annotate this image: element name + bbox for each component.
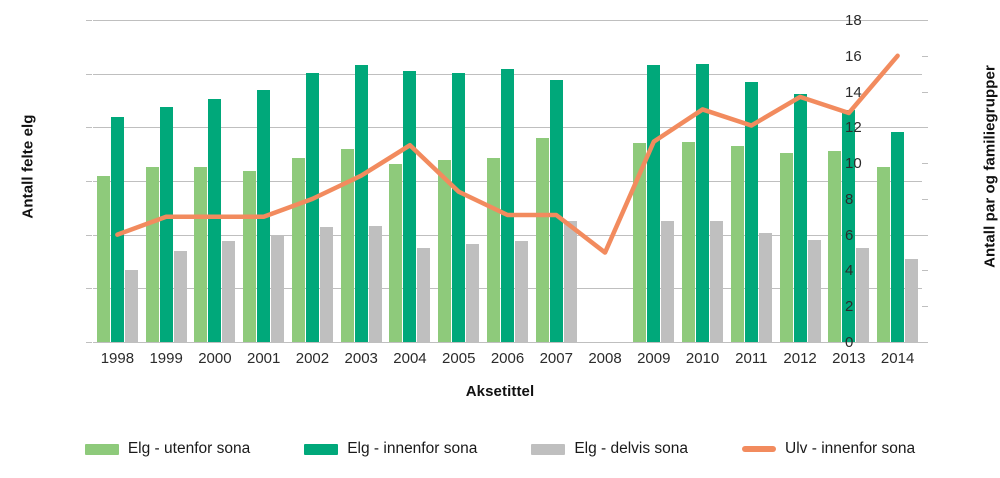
bar — [403, 71, 416, 342]
y-axis-left-title: Antall felte elg — [20, 47, 37, 287]
x-axis-tick-label: 2014 — [868, 350, 928, 367]
y-axis-left-tick — [86, 288, 92, 289]
y-axis-right-tick — [922, 306, 928, 307]
bar — [891, 132, 904, 342]
legend-swatch-icon — [531, 444, 565, 455]
y-axis-right-tick-label: 2 — [845, 299, 885, 314]
bar — [125, 270, 138, 342]
bar-group — [438, 20, 479, 342]
bar — [745, 82, 758, 342]
y-axis-right-title: Antall par og familiegrupper — [982, 47, 999, 287]
y-axis-left-tick — [86, 127, 92, 128]
bar-group — [243, 20, 284, 342]
bar-group — [487, 20, 528, 342]
bar-group — [536, 20, 577, 342]
bar — [550, 80, 563, 342]
bar — [355, 65, 368, 342]
y-axis-right-tick-label: 12 — [845, 120, 885, 135]
bar — [564, 221, 577, 342]
chart-legend: Elg - utenfor sonaElg - innenfor sonaElg… — [0, 440, 1000, 458]
y-axis-right-tick-label: 16 — [845, 49, 885, 64]
legend-swatch-icon — [85, 444, 119, 455]
chart-container: Antall felte elg Antall par og familiegr… — [0, 0, 1000, 478]
y-axis-left-tick — [86, 181, 92, 182]
y-axis-right-tick-label: 4 — [845, 263, 885, 278]
y-axis-right-tick-label: 6 — [845, 228, 885, 243]
bar — [369, 226, 382, 342]
bar — [808, 240, 821, 343]
bar-group — [828, 20, 869, 342]
y-axis-right-tick — [922, 92, 928, 93]
legend-item-label: Ulv - innenfor sona — [785, 440, 915, 458]
bar — [856, 248, 869, 342]
bar — [222, 241, 235, 342]
bar — [320, 227, 333, 342]
bar — [780, 153, 793, 342]
legend-line-marker-icon — [742, 446, 776, 452]
bar-group — [146, 20, 187, 342]
bar — [828, 151, 841, 342]
bar — [306, 73, 319, 342]
y-axis-right-tick-label: 8 — [845, 192, 885, 207]
bar-group — [341, 20, 382, 342]
bar-group — [682, 20, 723, 342]
bar-group — [731, 20, 772, 342]
gridline — [93, 342, 922, 343]
legend-item[interactable]: Ulv - innenfor sona — [742, 440, 915, 458]
y-axis-left-tick — [86, 74, 92, 75]
y-axis-right-tick — [922, 127, 928, 128]
bar — [194, 167, 207, 342]
bar — [174, 251, 187, 342]
bar-group — [194, 20, 235, 342]
bar — [661, 221, 674, 342]
bar — [682, 142, 695, 342]
y-axis-right-tick-label: 18 — [845, 13, 885, 28]
legend-item-label: Elg - utenfor sona — [128, 440, 250, 458]
bar — [466, 244, 479, 342]
bar — [243, 171, 256, 342]
bar — [515, 241, 528, 342]
legend-item[interactable]: Elg - innenfor sona — [304, 440, 477, 458]
bar — [452, 73, 465, 342]
legend-swatch-icon — [304, 444, 338, 455]
y-axis-right-tick — [922, 163, 928, 164]
bar — [759, 233, 772, 342]
bar — [647, 65, 660, 342]
bar — [111, 117, 124, 342]
x-axis-title: Aksetittel — [0, 383, 1000, 400]
legend-item-label: Elg - delvis sona — [574, 440, 688, 458]
y-axis-left-tick — [86, 235, 92, 236]
bar — [389, 164, 402, 342]
bar — [208, 99, 221, 342]
y-axis-right-tick — [922, 56, 928, 57]
y-axis-right-tick — [922, 270, 928, 271]
bar — [97, 176, 110, 342]
y-axis-right-tick — [922, 342, 928, 343]
bar — [257, 90, 270, 342]
bar — [271, 235, 284, 342]
bar — [633, 143, 646, 342]
plot-area — [93, 20, 922, 342]
y-axis-right-tick — [922, 235, 928, 236]
bar — [710, 221, 723, 342]
bar — [501, 69, 514, 342]
y-axis-left-tick — [86, 342, 92, 343]
legend-item[interactable]: Elg - delvis sona — [531, 440, 688, 458]
bar-group — [292, 20, 333, 342]
bar-group — [633, 20, 674, 342]
bar-group — [97, 20, 138, 342]
bar — [146, 167, 159, 342]
legend-item[interactable]: Elg - utenfor sona — [85, 440, 250, 458]
bar — [487, 158, 500, 342]
bar — [536, 138, 549, 342]
bar — [905, 259, 918, 342]
y-axis-left-tick — [86, 20, 92, 21]
bar-group — [877, 20, 918, 342]
y-axis-right-tick-label: 14 — [845, 85, 885, 100]
y-axis-right-tick-label: 10 — [845, 156, 885, 171]
legend-item-label: Elg - innenfor sona — [347, 440, 477, 458]
y-axis-right-tick — [922, 199, 928, 200]
bar — [160, 107, 173, 342]
bar-group — [585, 20, 626, 342]
bar — [794, 94, 807, 342]
y-axis-right-tick-label: 0 — [845, 335, 885, 350]
bar-group — [389, 20, 430, 342]
bar — [292, 158, 305, 342]
bar — [417, 248, 430, 342]
bar-group — [780, 20, 821, 342]
bar — [341, 149, 354, 342]
y-axis-right-tick — [922, 20, 928, 21]
bar — [731, 146, 744, 342]
bar — [438, 160, 451, 342]
bar — [696, 64, 709, 342]
